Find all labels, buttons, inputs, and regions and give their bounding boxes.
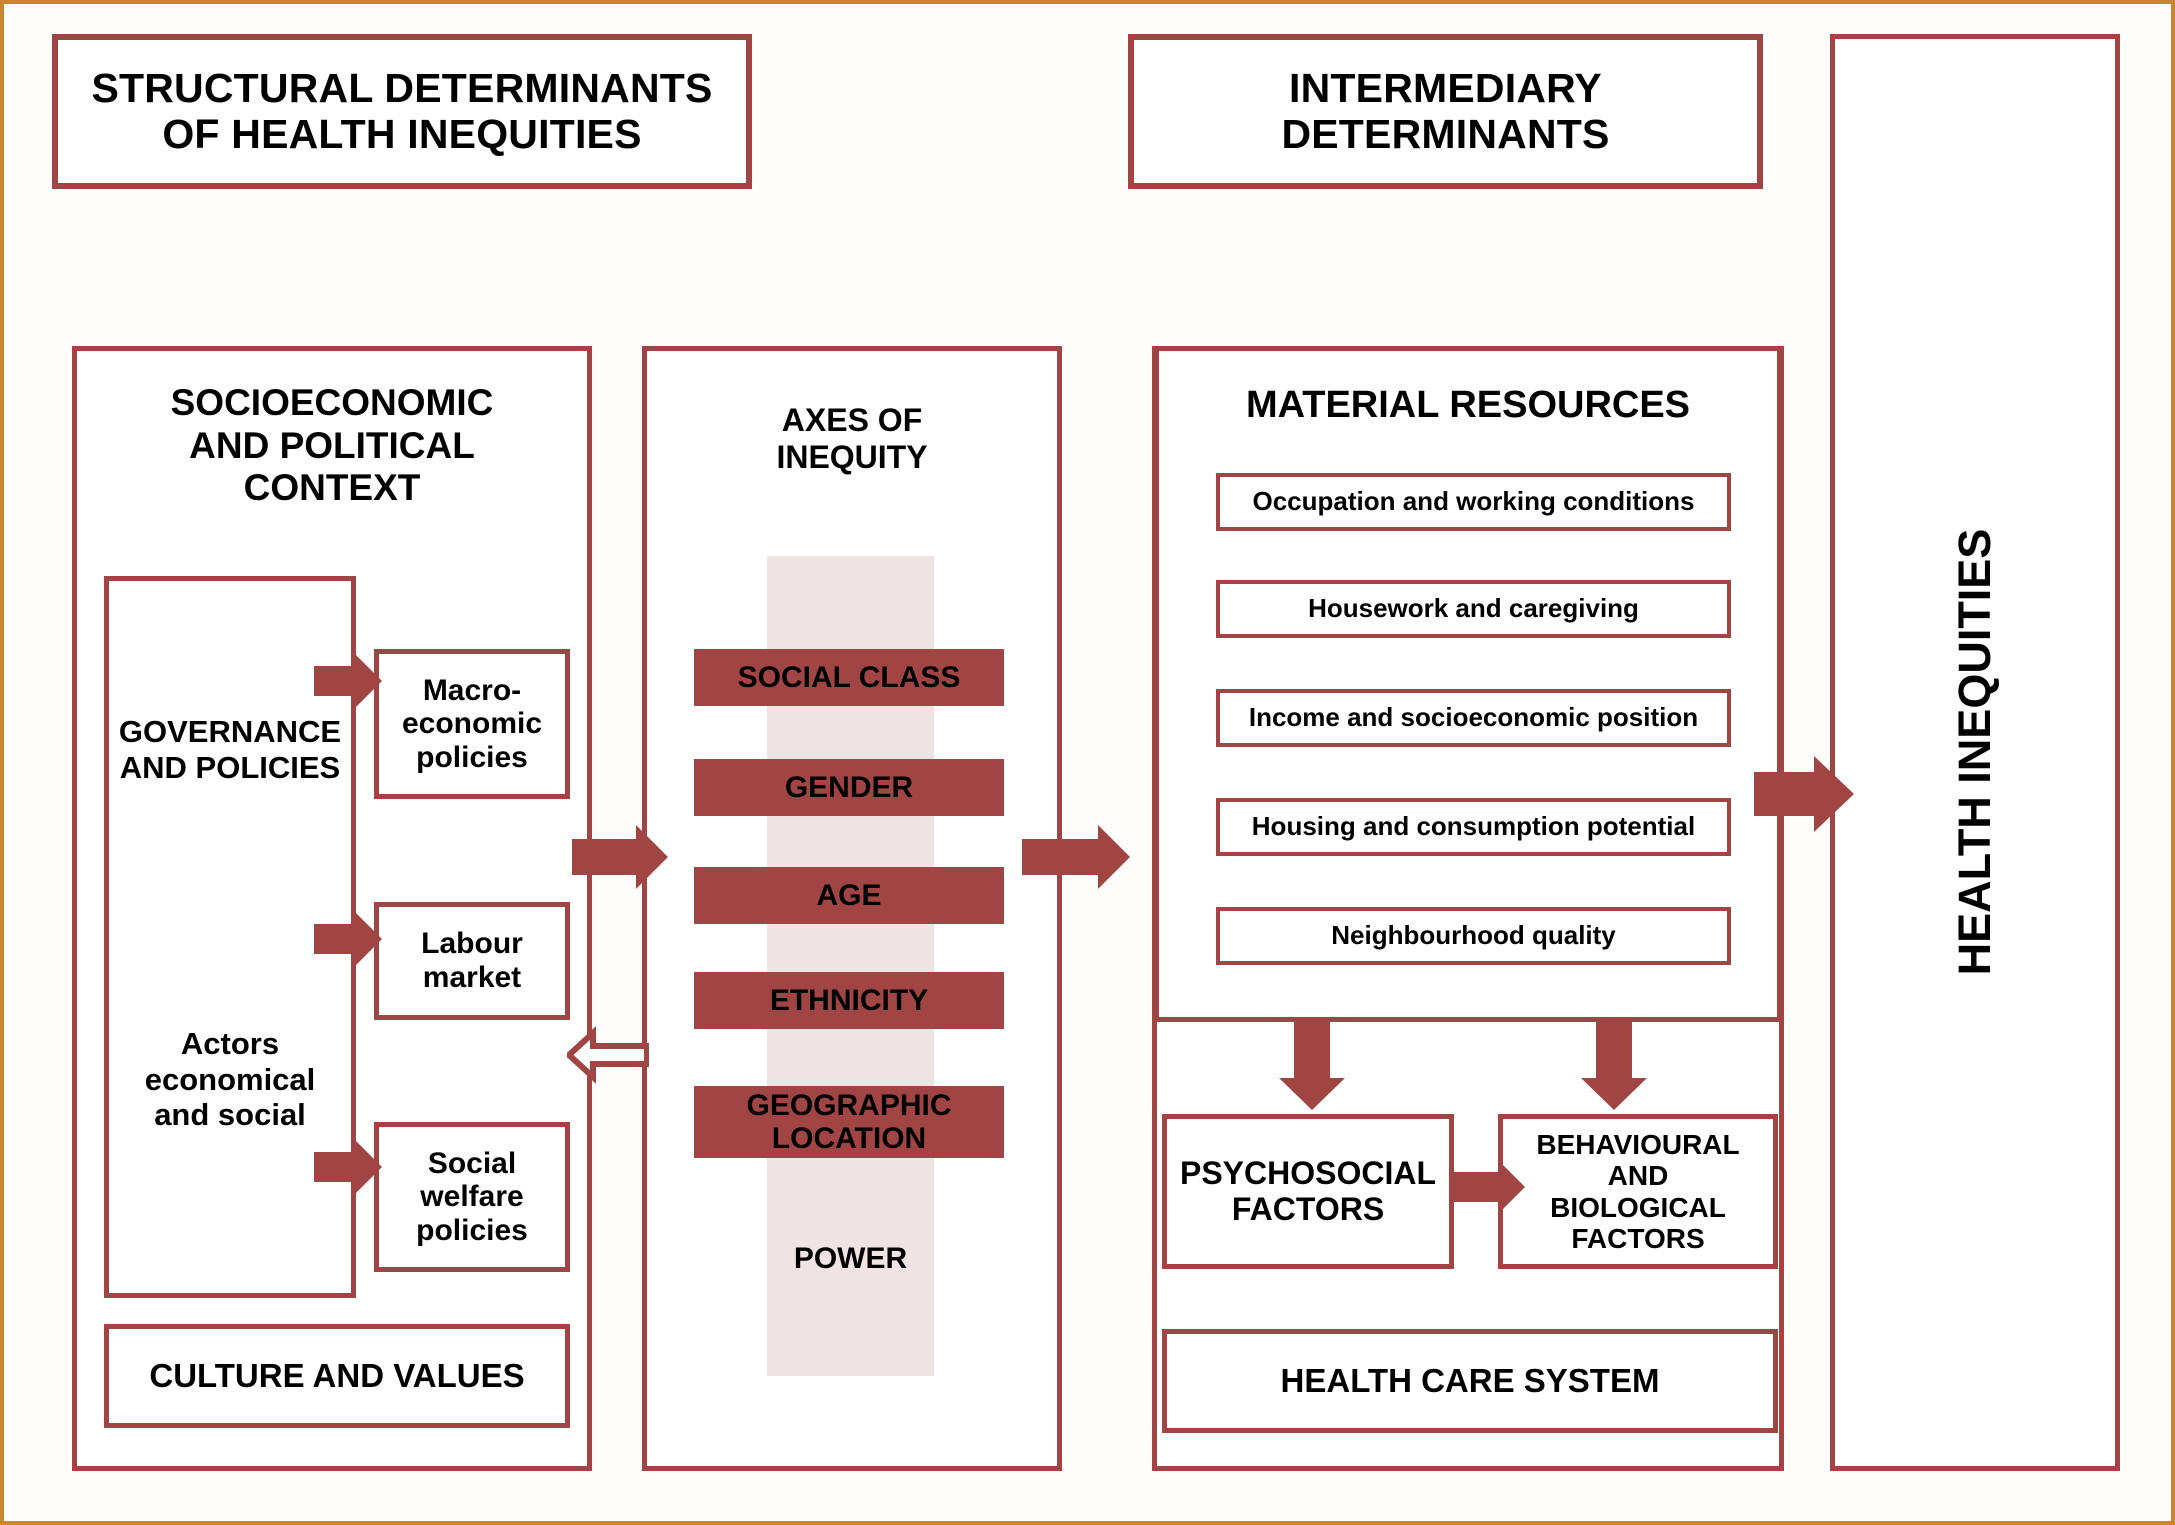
box-labour-market: Labour market	[374, 902, 570, 1020]
axis-label-geographic-line1: GEOGRAPHIC	[746, 1089, 951, 1122]
header-intermediary-determinants: INTERMEDIARY DETERMINANTS	[1128, 34, 1763, 189]
box-culture-and-values: CULTURE AND VALUES	[104, 1324, 570, 1428]
social-welfare-line2: welfare	[416, 1180, 528, 1214]
health-care-system-label: HEALTH CARE SYSTEM	[1281, 1363, 1660, 1400]
material-item-0: Occupation and working conditions	[1252, 487, 1694, 516]
governance-line2: AND POLICIES	[108, 750, 352, 786]
arrow-axes-to-intermediary-icon	[1022, 839, 1098, 875]
health-inequities-label-text: HEALTH INEQUITIES	[1949, 529, 2000, 976]
material-item-2: Income and socioeconomic position	[1249, 703, 1698, 732]
axis-bar-ethnicity: ETHNICITY	[694, 972, 1004, 1029]
box-macroeconomic-policies: Macro- economic policies	[374, 649, 570, 799]
material-item-3: Housing and consumption potential	[1252, 812, 1695, 841]
box-behavioural-biological-factors: BEHAVIOURAL AND BIOLOGICAL FACTORS	[1498, 1114, 1778, 1269]
axis-label-ethnicity: ETHNICITY	[770, 984, 928, 1017]
axis-label-gender: GENDER	[785, 771, 913, 804]
macroeconomic-line1: Macro-	[402, 674, 542, 708]
material-resources-title: MATERIAL RESOURCES	[1160, 384, 1776, 428]
labour-market-line1: Labour	[421, 927, 523, 961]
power-label: POWER	[767, 1242, 934, 1276]
header-structural-line1: STRUCTURAL DETERMINANTS	[91, 66, 712, 112]
actors-line1: Actors	[108, 1026, 352, 1062]
axis-label-age: AGE	[816, 879, 881, 912]
panel-socioeconomic-title-line1: SOCIOECONOMIC	[82, 382, 582, 425]
psychosocial-line1: PSYCHOSOCIAL	[1180, 1156, 1436, 1192]
arrow-material-to-behavioural-icon	[1596, 1022, 1632, 1078]
health-inequities-label: HEALTH INEQUITIES	[1949, 529, 2001, 976]
axis-bar-geographic-location: GEOGRAPHIC LOCATION	[694, 1086, 1004, 1158]
behavioural-line3: FACTORS	[1503, 1223, 1773, 1254]
box-material-housing: Housing and consumption potential	[1216, 798, 1731, 856]
material-item-4: Neighbourhood quality	[1331, 921, 1616, 950]
box-material-income: Income and socioeconomic position	[1216, 689, 1731, 747]
box-social-welfare-policies: Social welfare policies	[374, 1122, 570, 1272]
panel-socioeconomic-title: SOCIOECONOMIC AND POLITICAL CONTEXT	[82, 382, 582, 510]
arrow-actors-to-social-welfare-icon	[314, 1152, 356, 1182]
box-material-occupation: Occupation and working conditions	[1216, 473, 1731, 531]
social-welfare-line3: policies	[416, 1214, 528, 1248]
arrow-intermediary-to-health-inequities-icon	[1754, 772, 1814, 816]
header-structural-line2: OF HEALTH INEQUITIES	[91, 112, 712, 158]
axes-title-line1: AXES OF	[652, 402, 1052, 439]
axis-label-social-class: SOCIAL CLASS	[738, 661, 961, 694]
behavioural-line2: BIOLOGICAL	[1503, 1192, 1773, 1223]
actors-line3: and social	[108, 1097, 352, 1133]
arrow-context-to-axes-icon	[572, 839, 636, 875]
governance-line1: GOVERNANCE	[108, 714, 352, 750]
material-item-1: Housework and caregiving	[1308, 594, 1639, 623]
header-intermediary-line1: INTERMEDIARY	[1281, 66, 1609, 112]
power-label-text: POWER	[794, 1242, 907, 1275]
box-health-care-system: HEALTH CARE SYSTEM	[1162, 1329, 1778, 1433]
axis-bar-age: AGE	[694, 867, 1004, 924]
macroeconomic-line2: economic	[402, 707, 542, 741]
header-intermediary-line2: DETERMINANTS	[1281, 112, 1609, 158]
arrow-governance-to-macroeconomic-icon	[314, 666, 356, 696]
panel-socioeconomic-title-line3: CONTEXT	[82, 467, 582, 510]
axes-title-line2: INEQUITY	[652, 439, 1052, 476]
panel-socioeconomic-title-line2: AND POLITICAL	[82, 425, 582, 468]
psychosocial-line2: FACTORS	[1180, 1192, 1436, 1228]
actors-line2: economical	[108, 1062, 352, 1098]
labour-market-line2: market	[421, 961, 523, 995]
box-psychosocial-factors: PSYCHOSOCIAL FACTORS	[1162, 1114, 1454, 1269]
culture-and-values-label: CULTURE AND VALUES	[149, 1358, 524, 1395]
arrow-feedback-axes-to-context-icon	[567, 1026, 649, 1084]
header-structural-determinants: STRUCTURAL DETERMINANTS OF HEALTH INEQUI…	[52, 34, 752, 189]
label-actors-economical-and-social: Actors economical and social	[108, 1026, 352, 1133]
social-welfare-line1: Social	[416, 1147, 528, 1181]
diagram-canvas: STRUCTURAL DETERMINANTS OF HEALTH INEQUI…	[0, 0, 2175, 1525]
material-resources-title-text: MATERIAL RESOURCES	[1246, 384, 1690, 426]
label-governance-and-policies: GOVERNANCE AND POLICIES	[108, 714, 352, 785]
arrow-psychosocial-to-behavioural-icon	[1454, 1172, 1500, 1202]
macroeconomic-line3: policies	[402, 741, 542, 775]
box-material-neighbourhood: Neighbourhood quality	[1216, 907, 1731, 965]
box-material-housework: Housework and caregiving	[1216, 580, 1731, 638]
axis-label-geographic-line2: LOCATION	[746, 1122, 951, 1155]
panel-axes-title: AXES OF INEQUITY	[652, 402, 1052, 476]
arrow-governance-to-labour-icon	[314, 924, 356, 954]
arrow-material-to-psychosocial-icon	[1294, 1022, 1330, 1078]
axis-bar-gender: GENDER	[694, 759, 1004, 816]
axis-bar-social-class: SOCIAL CLASS	[694, 649, 1004, 706]
behavioural-line1: BEHAVIOURAL AND	[1503, 1129, 1773, 1192]
